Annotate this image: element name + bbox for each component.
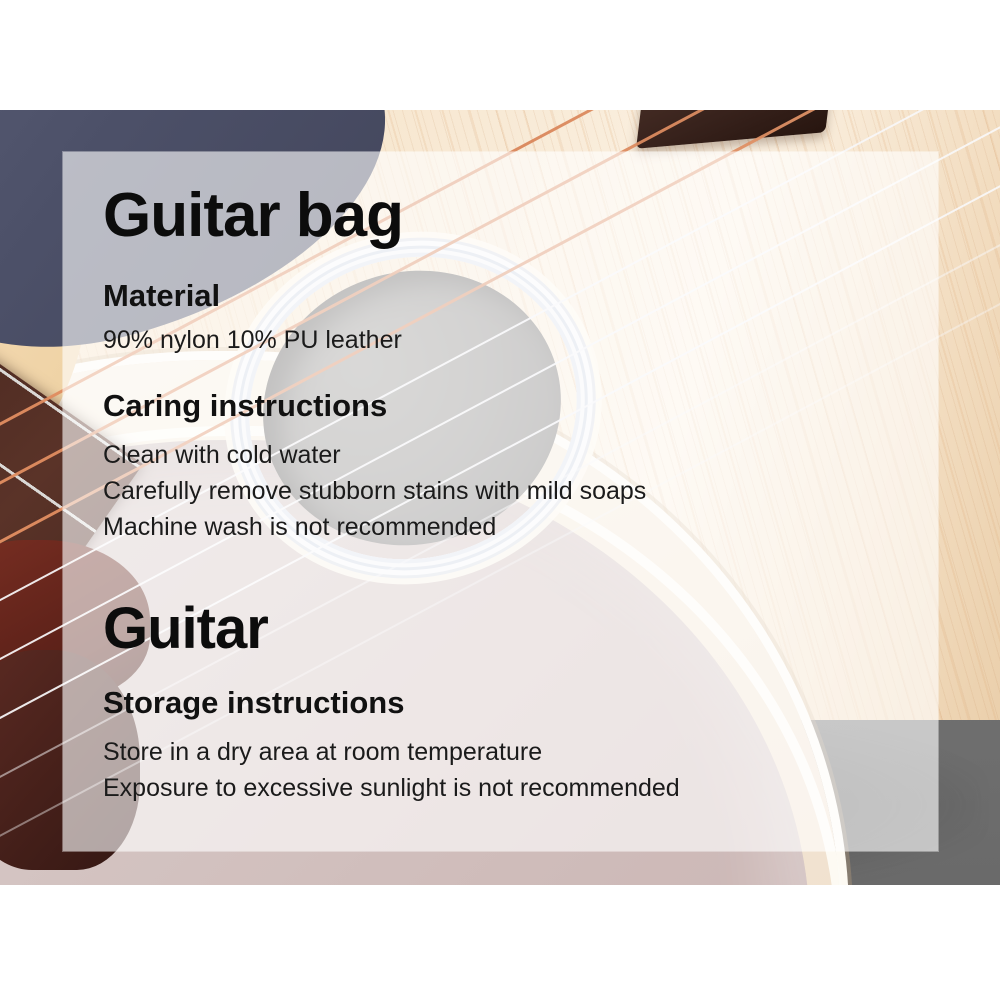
heading-storage-instructions: Storage instructions: [103, 687, 404, 718]
section-title-guitar-bag: Guitar bag: [103, 185, 403, 247]
heading-material: Material: [103, 280, 220, 311]
caring-line-3: Machine wash is not recommended: [103, 515, 496, 540]
caring-line-1: Clean with cold water: [103, 443, 341, 468]
caring-line-2: Carefully remove stubborn stains with mi…: [103, 479, 646, 504]
info-overlay-content: Guitar bag Material 90% nylon 10% PU lea…: [63, 152, 938, 851]
material-line-1: 90% nylon 10% PU leather: [103, 328, 402, 353]
storage-line-2: Exposure to excessive sunlight is not re…: [103, 776, 680, 801]
product-info-card: Guitar bag Material 90% nylon 10% PU lea…: [0, 0, 1000, 1000]
section-title-guitar: Guitar: [103, 600, 268, 658]
storage-line-1: Store in a dry area at room temperature: [103, 740, 542, 765]
heading-caring-instructions: Caring instructions: [103, 390, 387, 421]
info-overlay-panel: Guitar bag Material 90% nylon 10% PU lea…: [63, 152, 938, 851]
